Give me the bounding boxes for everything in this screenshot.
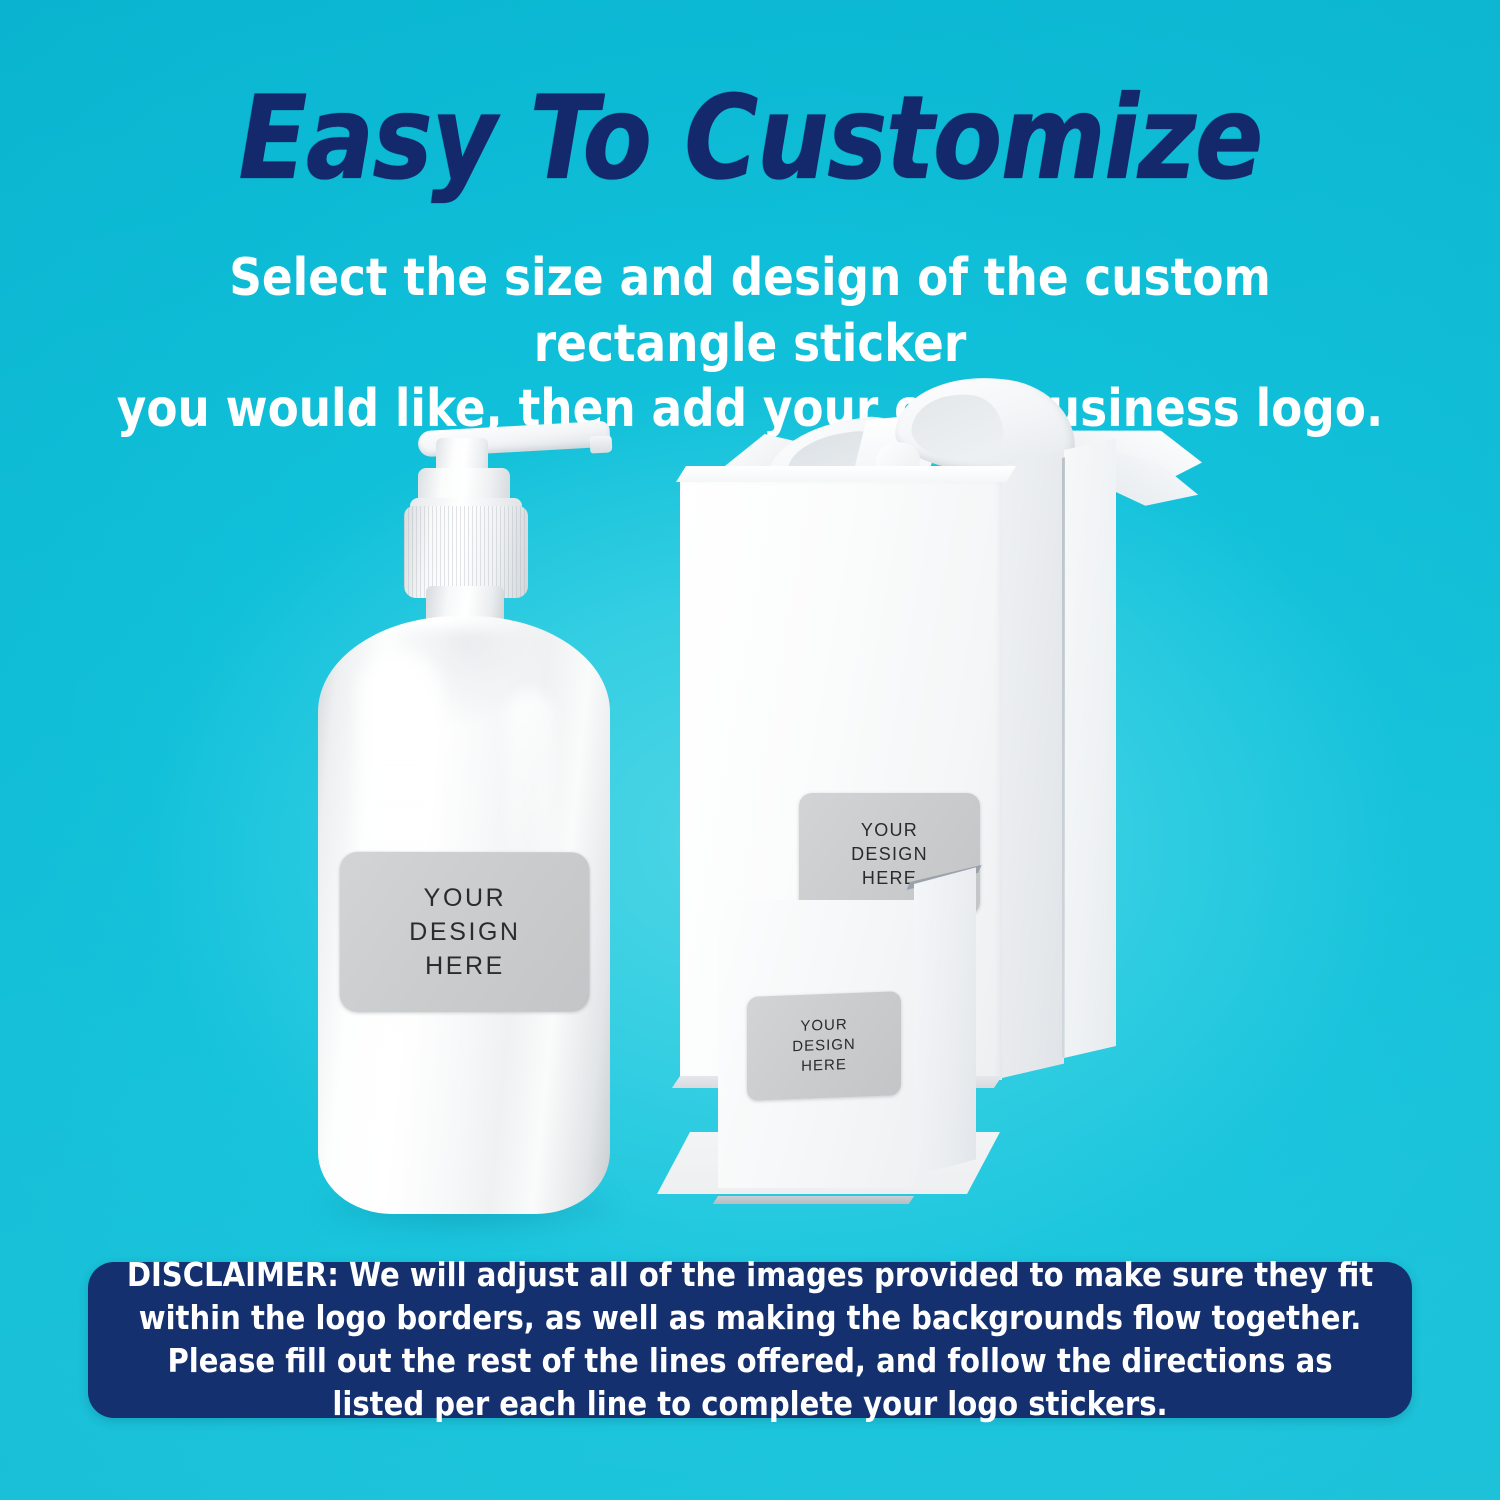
disclaimer-text: DISCLAIMER: We will adjust all of the im… (101, 1254, 1399, 1426)
sticker-label-small-box: YOUR DESIGN HERE (747, 991, 901, 1101)
sticker-line-1: YOUR (800, 1015, 847, 1037)
sticker-line-3: HERE (425, 949, 505, 983)
pump-ribbed-cap (404, 506, 528, 598)
gift-box-side-front (1002, 452, 1064, 1078)
sticker-label-bottle: YOUR DESIGN HERE (340, 852, 590, 1013)
gift-box-seam (1062, 457, 1065, 1058)
sticker-line-3: HERE (801, 1055, 847, 1077)
small-box-bottom-edge (713, 1196, 914, 1204)
product-scene: YOUR DESIGN HERE YOUR DESIGN HERE (0, 390, 1500, 1260)
disclaimer-banner: DISCLAIMER: We will adjust all of the im… (88, 1262, 1412, 1418)
gift-box-lid-edge (676, 466, 1016, 482)
sticker-line-2: DESIGN (792, 1035, 856, 1057)
pump-nozzle-tip (590, 435, 613, 453)
small-box-side-panel (914, 867, 976, 1176)
disclaimer-label: DISCLAIMER: (127, 1255, 339, 1294)
sticker-line-2: DESIGN (851, 842, 928, 866)
pump-bottle-mockup: YOUR DESIGN HERE (300, 420, 630, 1240)
subtitle-line-1: Select the size and design of the custom… (110, 246, 1390, 377)
sticker-line-1: YOUR (424, 881, 507, 915)
page-title: Easy To Customize (30, 78, 1470, 200)
small-box-mockup: YOUR DESIGN HERE (718, 898, 988, 1198)
gift-box-side-back (1064, 438, 1116, 1058)
promo-graphic: Easy To Customize Select the size and de… (0, 0, 1500, 1500)
sticker-line-1: YOUR (861, 818, 918, 842)
sticker-line-2: DESIGN (409, 915, 520, 949)
